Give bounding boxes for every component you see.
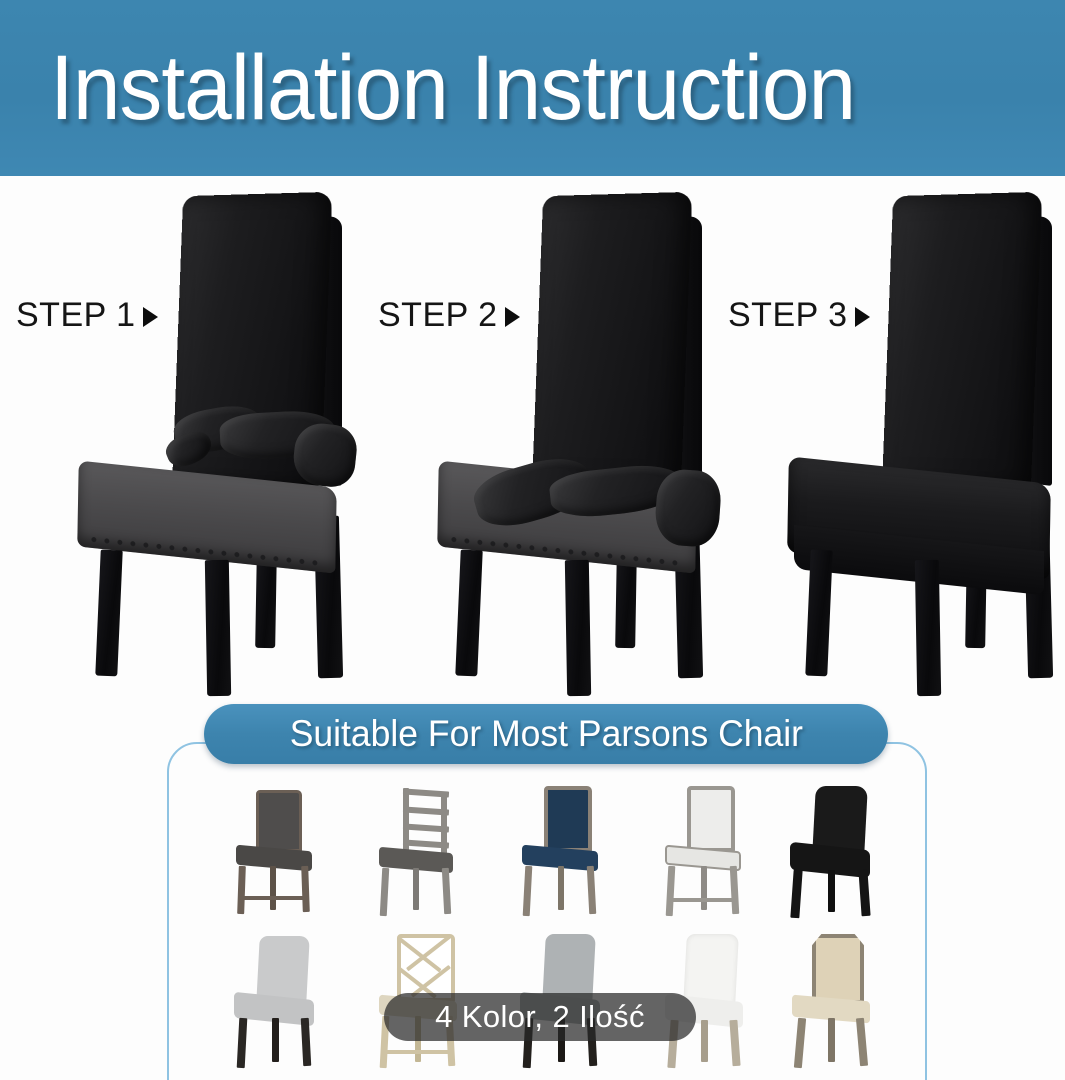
chair-leg xyxy=(666,866,676,916)
chair-ladder-rail xyxy=(403,788,449,797)
chair-leg xyxy=(272,1018,279,1062)
chair-thumb-dark-grey-leather-parsons-chair xyxy=(224,780,364,928)
chair-thumb-white-upholstered-grey-frame-chair xyxy=(653,780,793,928)
step-3-chair-image xyxy=(780,186,1065,686)
product-infographic: Installation Instruction STEP 1 STEP 2 S… xyxy=(0,0,1065,1080)
chair-leg-front-right xyxy=(915,560,941,696)
chair-leg xyxy=(413,868,419,910)
chair-leg xyxy=(856,1018,868,1067)
chair-leg xyxy=(523,866,533,916)
chair-leg xyxy=(237,866,246,914)
suitable-banner-text: Suitable For Most Parsons Chair xyxy=(289,713,802,755)
chair-leg xyxy=(380,868,390,916)
chair-leg xyxy=(301,866,310,912)
header-banner: Installation Instruction xyxy=(0,0,1065,176)
chair-back xyxy=(544,786,592,852)
chair-backrest-cover xyxy=(882,192,1042,486)
chair-back xyxy=(256,790,302,852)
chair-stretcher xyxy=(383,1050,453,1054)
chair-thumb-navy-blue-upholstered-chair xyxy=(510,780,650,928)
chair-leg-front-right xyxy=(565,560,591,696)
step-1-chair-image xyxy=(70,186,370,686)
chair-back xyxy=(812,934,864,1004)
chair-thumb-ladder-back-grey-chair xyxy=(367,780,507,928)
chair-thumb-black-parsons-chair xyxy=(780,780,920,928)
chair-back xyxy=(683,934,739,1006)
chair-leg xyxy=(730,866,740,914)
chair-stretcher xyxy=(240,896,308,900)
chair-leg xyxy=(587,866,597,914)
chair-leg xyxy=(858,870,870,917)
cover-drape-fold xyxy=(653,468,722,548)
chair-leg-front-left xyxy=(805,550,832,677)
chair-leg xyxy=(237,1018,248,1068)
variant-overlay-badge[interactable]: 4 Kolor, 2 Ilość xyxy=(384,993,696,1041)
chair-leg xyxy=(701,1020,708,1062)
chair-back xyxy=(687,786,735,852)
chair-leg xyxy=(558,866,564,910)
chair-thumb-light-grey-slipcover-chair xyxy=(224,930,364,1078)
chair-leg xyxy=(828,870,835,912)
chair-leg xyxy=(442,868,451,914)
chair-stretcher xyxy=(669,898,737,902)
chair-leg-front-right xyxy=(205,560,231,696)
chair-leg-front-left xyxy=(455,550,482,677)
chair-leg xyxy=(790,870,802,919)
chair-leg xyxy=(701,866,707,910)
page-title: Installation Instruction xyxy=(50,36,980,140)
chair-leg xyxy=(794,1018,806,1069)
suitable-banner: Suitable For Most Parsons Chair xyxy=(204,704,888,764)
step-2-chair-image xyxy=(430,186,730,686)
chair-leg xyxy=(828,1018,835,1062)
chair-leg xyxy=(270,866,276,910)
steps-section: STEP 1 STEP 2 STEP 3 xyxy=(0,176,1065,696)
chair-back xyxy=(256,936,310,1004)
variant-overlay-text: 4 Kolor, 2 Ilość xyxy=(435,999,645,1035)
chair-backrest-cover xyxy=(532,192,692,486)
chair-leg-front-left xyxy=(95,550,122,677)
chair-thumb-cream-shaped-back-chair xyxy=(780,930,920,1078)
